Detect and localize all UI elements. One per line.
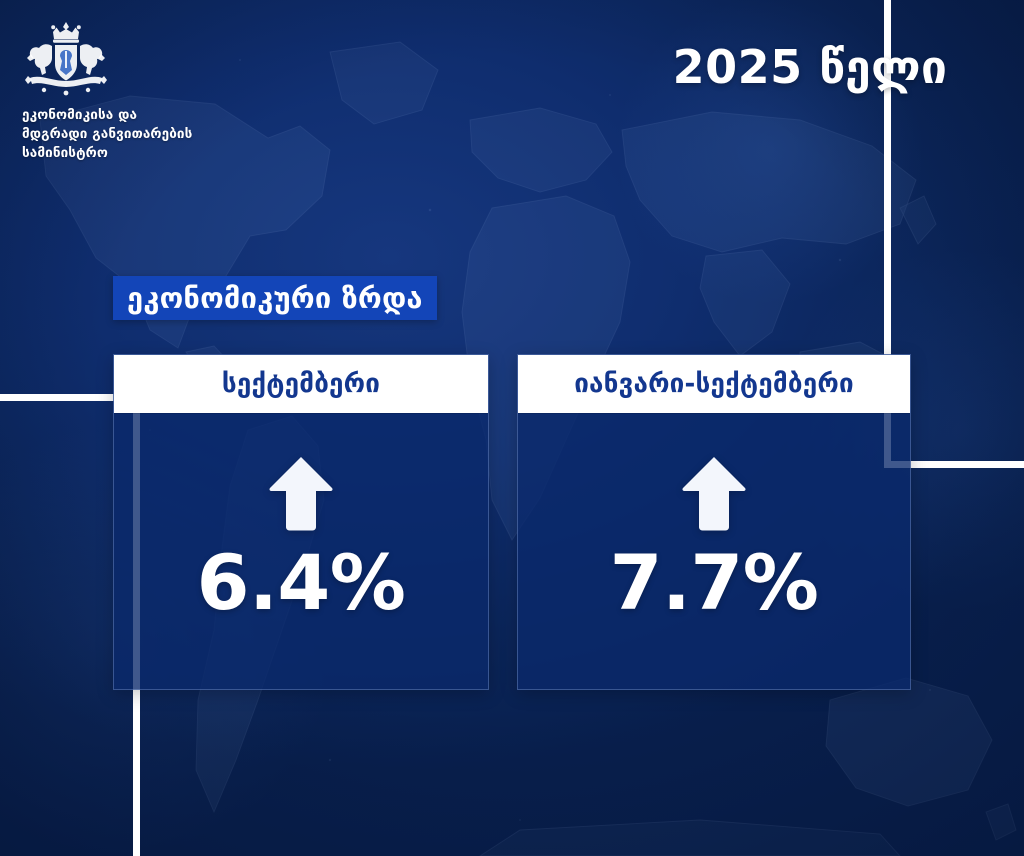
ministry-logo-block: ეკონომიკისა და მდგრადი განვითარების სამი… [16,18,276,163]
section-banner-label: ეკონომიკური ზრდა [127,284,423,313]
arrow-up-icon [681,455,747,533]
metric-value-january-september: 7.7% [610,545,819,621]
infographic-slide: ეკონომიკისა და მდგრადი განვითარების სამი… [0,0,1024,856]
section-banner: ეკონომიკური ზრდა [113,276,437,320]
metric-card-header-january-september: იანვარი-სექტემბერი [518,355,910,413]
year-title: 2025 წელი [650,40,970,94]
georgia-coat-of-arms-icon [22,18,110,98]
metric-card-header-september: სექტემბერი [114,355,488,413]
metric-card-body-september: 6.4% [114,413,488,689]
metric-card-header-label: სექტემბერი [222,371,380,397]
ministry-name: ეკონომიკისა და მდგრადი განვითარების სამი… [22,106,276,163]
arrow-up-icon [268,455,334,533]
metric-cards-row: სექტემბერი 6.4% იანვარი-სექტემბერი 7.7% [113,354,913,690]
metric-card-body-january-september: 7.7% [518,413,910,689]
metric-card-january-september: იანვარი-სექტემბერი 7.7% [517,354,911,690]
metric-card-september: სექტემბერი 6.4% [113,354,489,690]
metric-value-september: 6.4% [197,545,406,621]
metric-card-header-label: იანვარი-სექტემბერი [574,371,854,397]
